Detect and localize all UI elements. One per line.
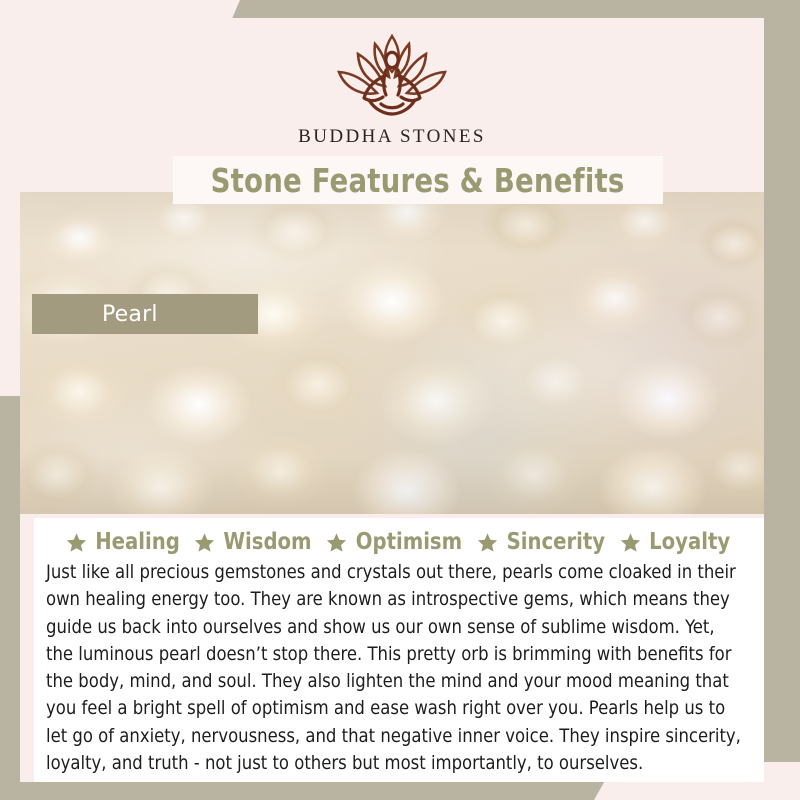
stone-name-tag: Pearl — [32, 294, 258, 334]
section-title-ribbon: Stone Features & Benefits — [173, 156, 663, 204]
benefit-keyword-label: Healing — [95, 529, 180, 555]
list-item: Healing — [66, 529, 182, 555]
infographic-page: BUDDHA STONES Stone Features & Benefits … — [0, 0, 800, 800]
benefit-keyword-list: Healing Wisdom Optimism — [34, 518, 764, 558]
star-icon — [66, 532, 87, 553]
list-item: Loyalty — [620, 529, 732, 555]
benefit-keyword-label: Loyalty — [649, 529, 730, 555]
star-icon — [620, 532, 641, 553]
stone-photo-texture — [20, 192, 764, 514]
page-surface: BUDDHA STONES Stone Features & Benefits … — [20, 18, 764, 782]
star-icon — [326, 532, 347, 553]
list-item: Wisdom — [194, 529, 314, 555]
brand-block: BUDDHA STONES — [20, 18, 764, 148]
page-title: Stone Features & Benefits — [211, 161, 625, 200]
benefit-keyword-label: Optimism — [356, 529, 462, 555]
star-icon — [477, 532, 498, 553]
lotus-meditation-figure-icon — [317, 30, 467, 122]
benefit-keyword-label: Sincerity — [506, 529, 605, 555]
benefits-description: Just like all precious gemstones and cry… — [46, 559, 741, 777]
benefits-panel: Healing Wisdom Optimism — [34, 518, 764, 782]
brand-name: BUDDHA STONES — [20, 126, 764, 148]
list-item: Optimism — [326, 529, 465, 555]
star-icon — [194, 532, 215, 553]
frame-accent-right — [764, 0, 800, 762]
stone-name-label: Pearl — [102, 302, 158, 327]
stone-photo — [20, 192, 764, 514]
benefit-keyword-label: Wisdom — [223, 529, 311, 555]
list-item: Sincerity — [477, 529, 608, 555]
